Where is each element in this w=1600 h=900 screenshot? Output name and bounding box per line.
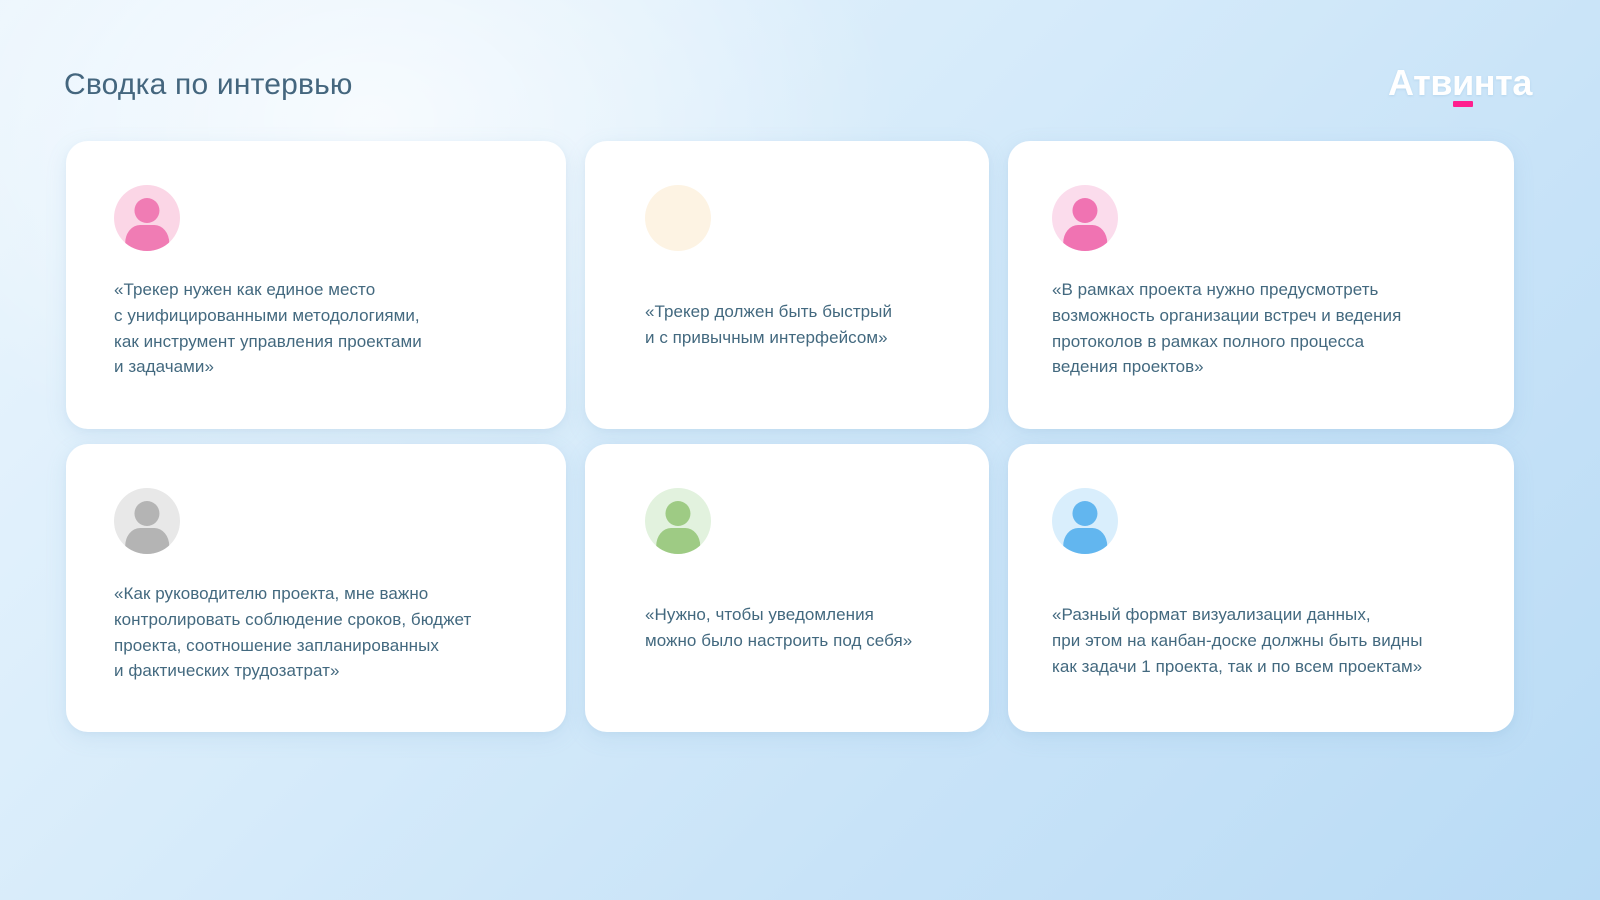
quote-card-2[interactable]: «Трекер должен быть быстрый и с привычны… xyxy=(585,141,989,429)
avatar-head-shape xyxy=(665,501,690,526)
avatar-body-shape xyxy=(656,528,700,554)
avatar-body-shape xyxy=(1063,225,1107,251)
brand-logo: Атвинта xyxy=(1388,62,1532,104)
quote-card-5[interactable]: «Нужно, чтобы уведомления можно было нас… xyxy=(585,444,989,732)
page-title: Сводка по интервью xyxy=(64,68,353,102)
avatar-head-shape xyxy=(1072,198,1097,223)
person-avatar-icon xyxy=(645,185,711,251)
avatar-body-shape xyxy=(1063,528,1107,554)
quote-card-1[interactable]: «Трекер нужен как единое место с унифици… xyxy=(66,141,566,429)
quote-text: «Как руководителю проекта, мне важно кон… xyxy=(114,581,518,684)
quote-text: «Трекер нужен как единое место с унифици… xyxy=(114,277,518,380)
quote-card-3[interactable]: «В рамках проекта нужно предусмотреть во… xyxy=(1008,141,1514,429)
avatar-head-shape xyxy=(134,501,159,526)
slide-header: Сводка по интервью Атвинта xyxy=(0,0,1600,140)
avatar-body-shape xyxy=(125,528,169,554)
avatar-body-shape xyxy=(125,225,169,251)
quote-card-grid: «Трекер нужен как единое место с унифици… xyxy=(66,141,1534,732)
person-avatar-icon xyxy=(1052,488,1118,554)
person-avatar-icon xyxy=(114,488,180,554)
quote-text: «Нужно, чтобы уведомления можно было нас… xyxy=(645,602,941,654)
avatar-head-shape xyxy=(134,198,159,223)
avatar-head-shape xyxy=(1072,501,1097,526)
quote-text: «Трекер должен быть быстрый и с привычны… xyxy=(645,299,941,351)
quote-card-4[interactable]: «Как руководителю проекта, мне важно кон… xyxy=(66,444,566,732)
avatar-body-shape xyxy=(656,225,700,251)
quote-text: «Разный формат визуализации данных, при … xyxy=(1052,602,1466,679)
person-avatar-icon xyxy=(1052,185,1118,251)
brand-logo-accent-letter: и xyxy=(1452,62,1474,104)
person-avatar-icon xyxy=(645,488,711,554)
brand-logo-part-after: нта xyxy=(1474,62,1532,103)
quote-text: «В рамках проекта нужно предусмотреть во… xyxy=(1052,277,1466,380)
person-avatar-icon xyxy=(114,185,180,251)
avatar-head-shape xyxy=(665,198,690,223)
quote-card-6[interactable]: «Разный формат визуализации данных, при … xyxy=(1008,444,1514,732)
brand-logo-part-before: Атв xyxy=(1388,62,1452,103)
